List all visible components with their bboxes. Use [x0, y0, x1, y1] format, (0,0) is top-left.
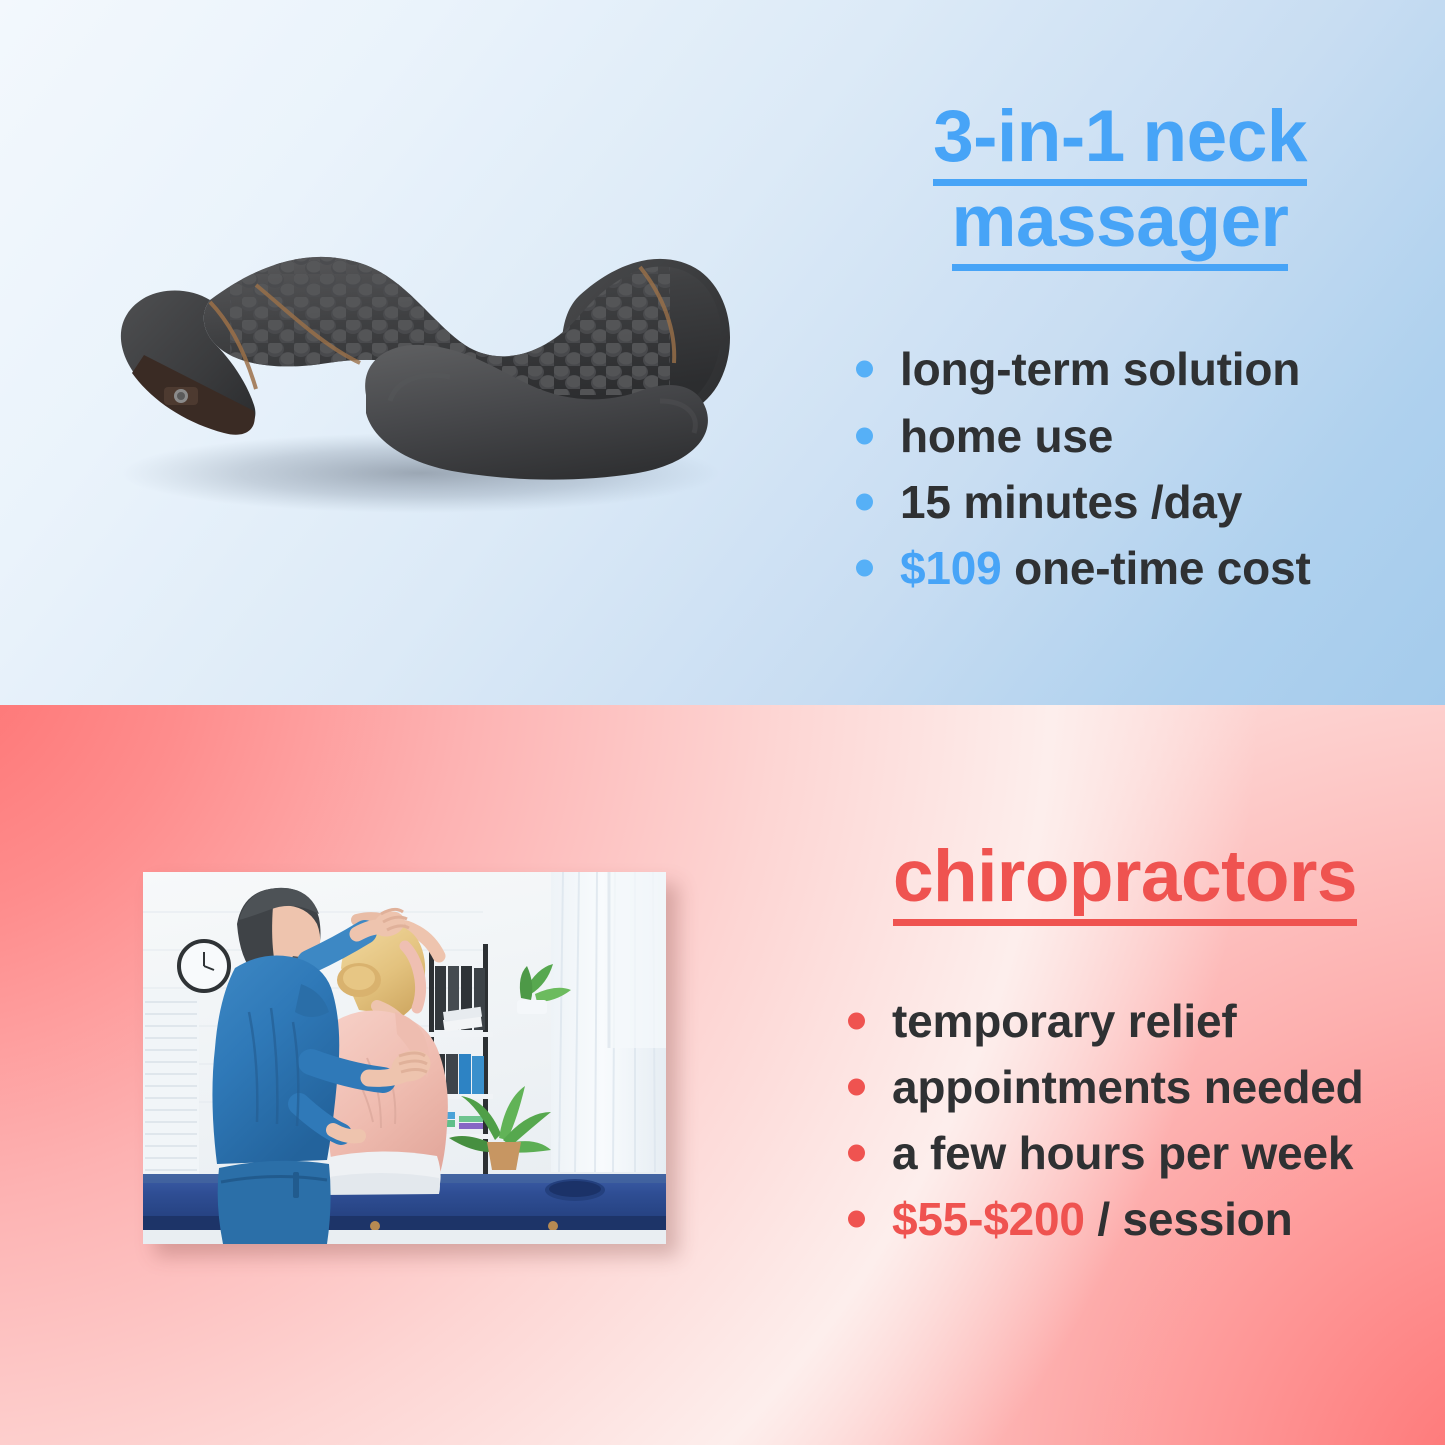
neck-massager-text-column: 3-in-1 neck massager long-term solution … [830, 95, 1410, 601]
list-item: a few hours per week [840, 1120, 1420, 1186]
chiropractor-session-photo [143, 872, 666, 1244]
page-title-chiropractors: chiropractors [830, 835, 1420, 920]
panel-chiropractors: chiropractors temporary relief appointme… [0, 705, 1445, 1445]
list-item: temporary relief [840, 988, 1420, 1054]
headline-line-2: massager [952, 181, 1289, 271]
list-item: home use [848, 403, 1410, 469]
comparison-infographic: 3-in-1 neck massager long-term solution … [0, 0, 1445, 1445]
bullet-text: home use [900, 410, 1113, 462]
price-value: $55-$200 [892, 1193, 1085, 1245]
chiropractor-text-column: chiropractors temporary relief appointme… [830, 835, 1420, 1253]
bullet-text: a few hours per week [892, 1127, 1353, 1179]
chiropractor-drawback-list: temporary relief appointments needed a f… [830, 988, 1420, 1253]
list-item: appointments needed [840, 1054, 1420, 1120]
price-label: one-time cost [1002, 542, 1311, 594]
list-item-price: $109 one-time cost [848, 535, 1410, 601]
headline-line-1: 3-in-1 neck [933, 96, 1307, 186]
headline-line-1: chiropractors [893, 836, 1357, 926]
panel-neck-massager: 3-in-1 neck massager long-term solution … [0, 0, 1445, 705]
neck-massager-benefit-list: long-term solution home use 15 minutes /… [830, 336, 1410, 601]
list-item: 15 minutes /day [848, 469, 1410, 535]
bullet-text: temporary relief [892, 995, 1237, 1047]
neck-massager-product-image [60, 205, 750, 515]
bullet-text: long-term solution [900, 343, 1300, 395]
price-label: / session [1085, 1193, 1293, 1245]
bullet-text: 15 minutes /day [900, 476, 1242, 528]
list-item-price: $55-$200 / session [840, 1186, 1420, 1252]
price-value: $109 [900, 542, 1002, 594]
page-title-neck-massager: 3-in-1 neck massager [830, 95, 1410, 264]
list-item: long-term solution [848, 336, 1410, 402]
bullet-text: appointments needed [892, 1061, 1364, 1113]
